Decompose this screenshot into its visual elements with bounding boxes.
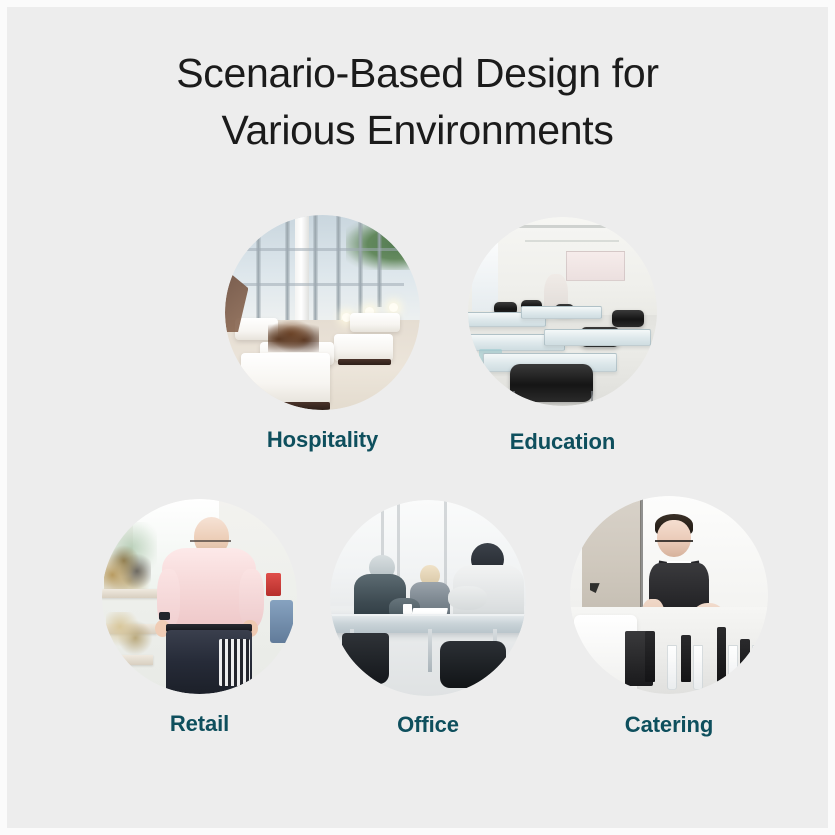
scenario-label-hospitality: Hospitality	[267, 427, 378, 453]
classroom-chair	[612, 310, 644, 327]
classroom-desk	[544, 329, 652, 346]
window	[472, 228, 498, 311]
column	[295, 215, 309, 332]
lounge-sofa	[350, 313, 401, 333]
scenario-card-education[interactable]: Education	[468, 217, 657, 406]
title-line-2: Various Environments	[7, 102, 828, 159]
glassware-icon	[752, 645, 762, 691]
scenario-label-retail: Retail	[170, 711, 229, 737]
retail-photo	[102, 499, 297, 694]
hospitality-photo	[225, 215, 420, 410]
shopping-bag	[219, 639, 250, 686]
catering-photo	[570, 496, 768, 694]
education-photo	[468, 217, 657, 406]
scenario-card-retail[interactable]: Retail	[102, 499, 297, 694]
shelf-products	[104, 542, 151, 589]
display-shelf	[102, 655, 153, 665]
whiteboard	[566, 251, 625, 281]
scenario-label-education: Education	[510, 429, 615, 455]
lounge-sofa	[241, 353, 331, 404]
poster-frame: Scenario-Based Design for Various Enviro…	[0, 0, 835, 835]
display-shelf	[102, 589, 161, 599]
glassware-icon	[667, 645, 677, 691]
scenario-card-catering[interactable]: Catering	[570, 496, 768, 694]
glasses-icon	[655, 540, 693, 550]
table-centerpiece	[268, 320, 319, 351]
glasses-icon	[190, 540, 231, 548]
lamp-icon	[389, 303, 398, 312]
office-photo	[330, 500, 526, 696]
bottle-icon	[681, 635, 691, 683]
product-box	[266, 573, 282, 596]
scenario-image-hospitality[interactable]	[225, 215, 420, 410]
shelf-products	[106, 612, 153, 655]
classroom-desk	[521, 306, 602, 319]
glassware-icon	[693, 645, 703, 691]
office-chair	[342, 633, 389, 684]
bottle-icon	[740, 639, 750, 683]
scenario-label-catering: Catering	[625, 712, 713, 738]
office-chair	[440, 641, 507, 688]
lounge-sofa	[334, 334, 393, 361]
bottle-icon	[717, 627, 727, 682]
scenario-image-education[interactable]	[468, 217, 657, 406]
wall	[582, 496, 641, 611]
bottle-icon	[645, 631, 655, 682]
wristwatch-icon	[159, 612, 171, 620]
scenario-image-office[interactable]	[330, 500, 526, 696]
scenario-card-hospitality[interactable]: Hospitality	[225, 215, 420, 410]
barista-head	[657, 520, 691, 558]
scenario-label-office: Office	[397, 712, 459, 738]
scenario-image-retail[interactable]	[102, 499, 297, 694]
glassware-icon	[728, 645, 738, 691]
page-title: Scenario-Based Design for Various Enviro…	[7, 45, 828, 159]
scenario-image-catering[interactable]	[570, 496, 768, 694]
poster-canvas: Scenario-Based Design for Various Enviro…	[7, 7, 828, 828]
product-box	[270, 600, 293, 643]
title-line-1: Scenario-Based Design for	[7, 45, 828, 102]
scenario-card-office[interactable]: Office	[330, 500, 526, 696]
